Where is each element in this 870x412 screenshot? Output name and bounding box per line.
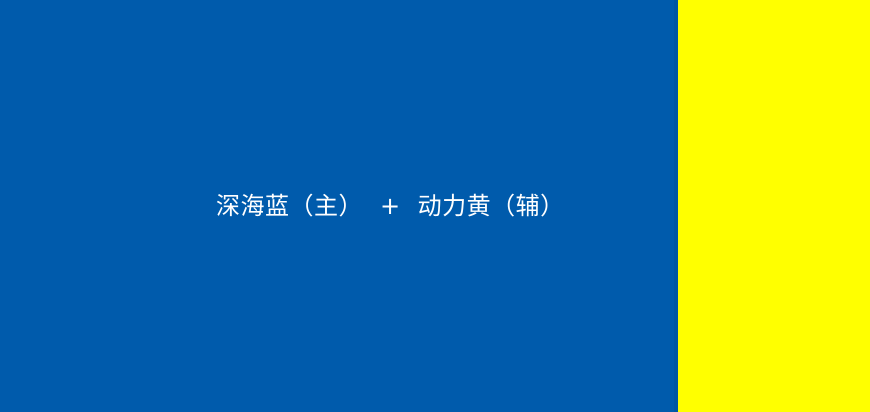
caption-accent-label: 动力黄（辅） [418,191,565,221]
palette-caption: 深海蓝（主） + 动力黄（辅） [216,191,565,221]
caption-plus-separator: + [363,191,418,221]
caption-primary-label: 深海蓝（主） [216,191,363,221]
swatch-primary-deep-blue: 深海蓝（主） + 动力黄（辅） [0,0,678,412]
color-palette-canvas: 深海蓝（主） + 动力黄（辅） [0,0,870,412]
swatch-accent-power-yellow [678,0,870,412]
